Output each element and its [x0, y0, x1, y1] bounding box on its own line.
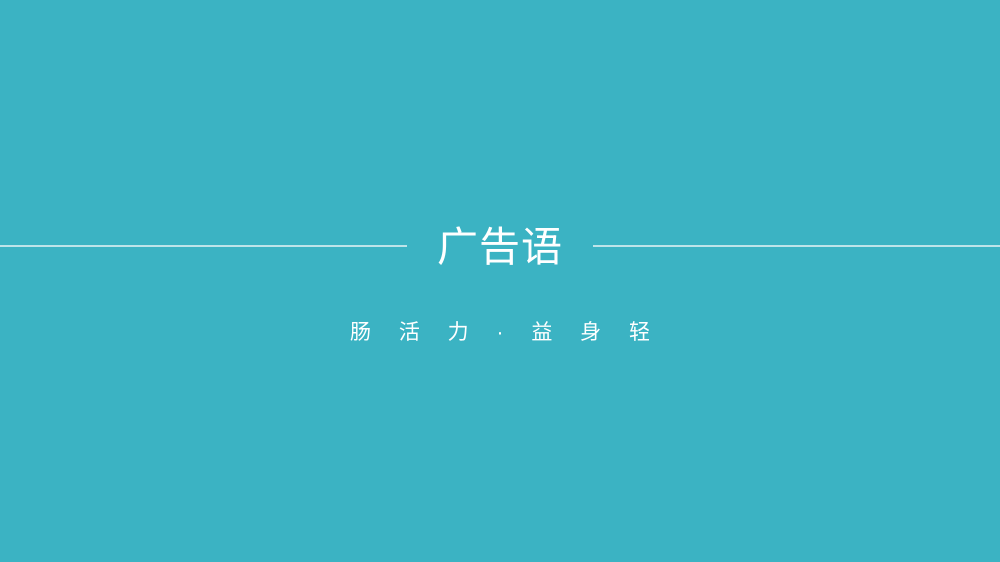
divider-line-right: [593, 245, 1000, 247]
title-divider-row: 广告语: [0, 0, 1000, 527]
page-subtitle: 肠 活 力 · 益 身 轻: [0, 322, 1000, 343]
slide-canvas: 广告语 肠 活 力 · 益 身 轻: [0, 0, 1000, 562]
divider-line-left: [0, 245, 407, 247]
page-title: 广告语: [437, 227, 563, 268]
